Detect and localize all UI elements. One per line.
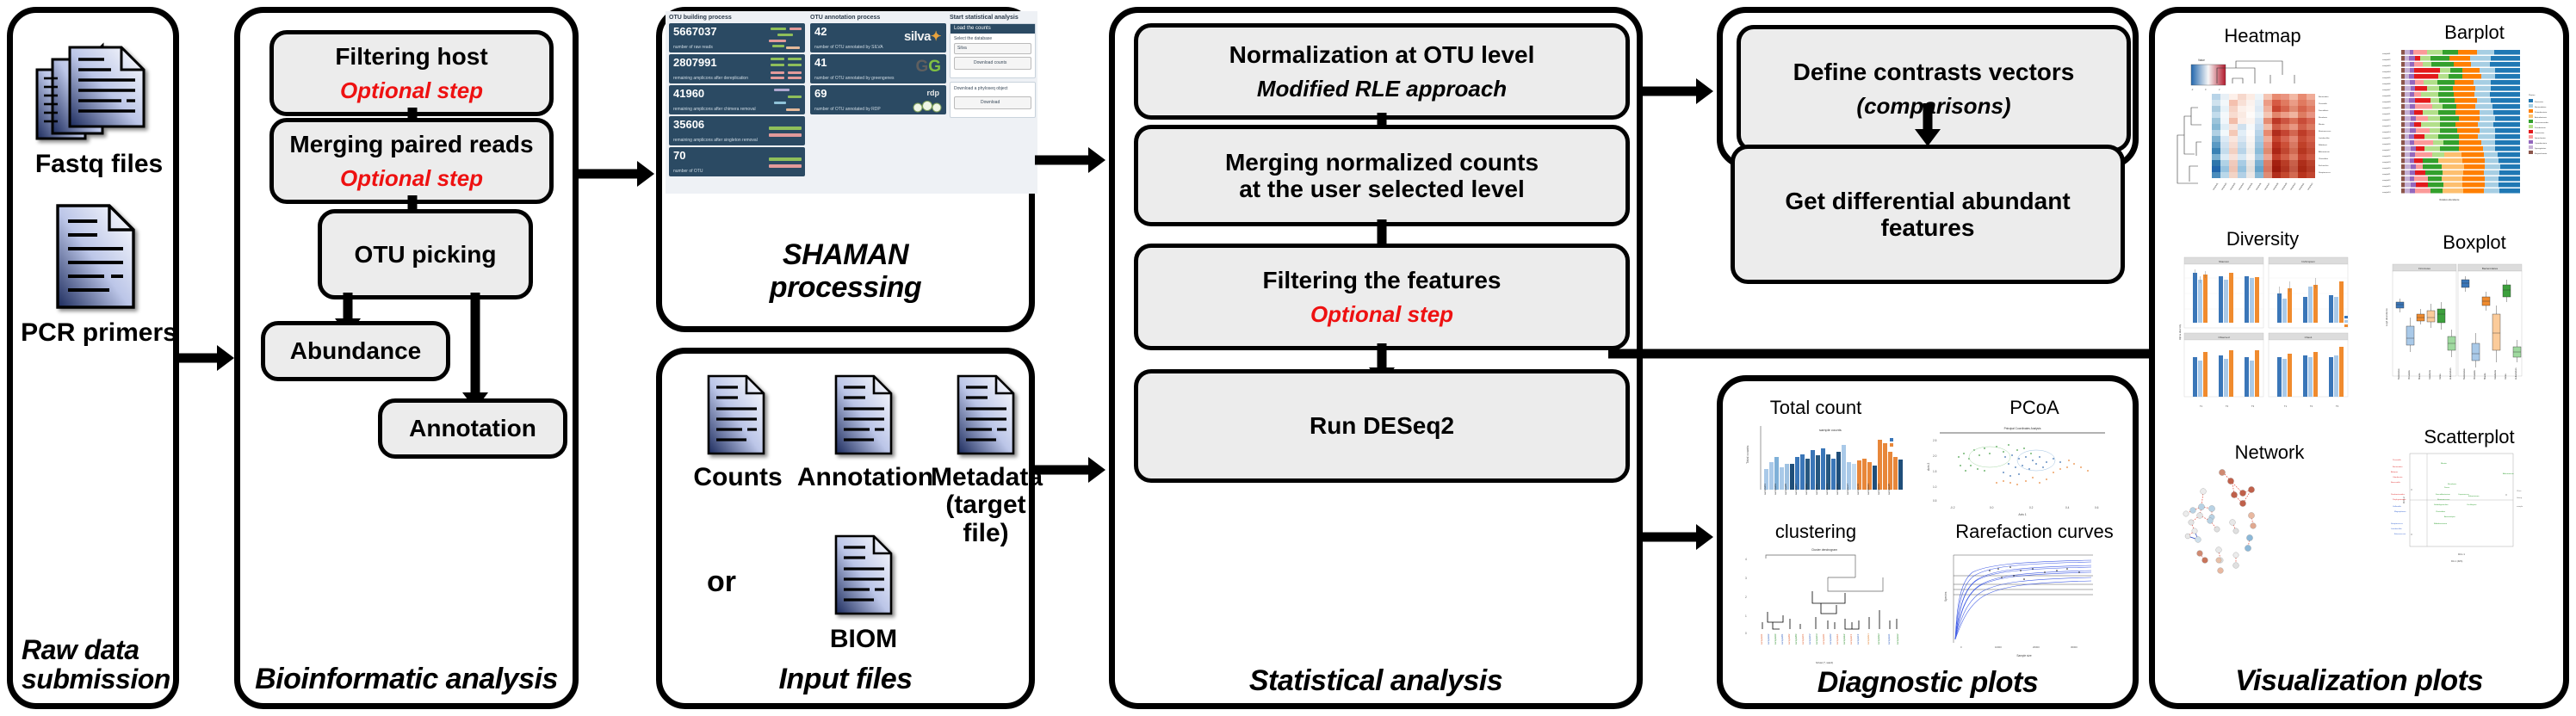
svg-text:Firmicutes: Firmicutes: [2535, 101, 2544, 103]
stat-caption: number of OTU annotated by greengenes: [814, 77, 895, 82]
svg-text:2: 2: [1745, 596, 1747, 599]
svg-text:Total counts: Total counts: [1745, 446, 1749, 464]
panel-caption-shaman: SHAMAN processing: [662, 238, 1029, 304]
step-subtitle: Optional step: [1310, 302, 1453, 327]
svg-text:Prevotella: Prevotella: [2319, 102, 2328, 105]
input-files-caption-text: Input files: [778, 663, 912, 695]
chart-scatterplot: Dim 2 Dim 1 PrevotellaBacteroidesAlistip…: [2391, 448, 2542, 616]
chart-barplot: sample01sample02sample03 sample04sample0…: [2381, 46, 2561, 218]
svg-text:Firmicutes: Firmicutes: [2418, 267, 2430, 270]
svg-text:Cluster dendrogram: Cluster dendrogram: [1811, 548, 1837, 552]
shaman-column-heading: Start statistical analysis: [950, 15, 1019, 21]
shaman-stat-card[interactable]: 2807991 remaining amplicons after derepl…: [669, 54, 805, 83]
stat-caption: number of OTU: [673, 170, 703, 175]
step-title: Get differential abundant features: [1785, 188, 2070, 242]
svg-text:Bifidobact.: Bifidobact.: [2319, 144, 2328, 146]
svg-text:sample22: sample22: [2382, 180, 2391, 182]
svg-text:Fusobacteria: Fusobacteria: [2535, 127, 2546, 129]
svg-text:sample02: sample02: [2221, 182, 2228, 191]
step-subtitle: Modified RLE approach: [1257, 77, 1507, 102]
svg-text:Relative abundance: Relative abundance: [2440, 198, 2460, 201]
plot-title-barplot: Barplot: [2270, 22, 2576, 44]
svg-text:30000: 30000: [2071, 645, 2078, 649]
svg-text:sampleE2: sampleE2: [1842, 633, 1846, 645]
stat-value: 69: [814, 88, 827, 99]
svg-text:Escherichia: Escherichia: [2319, 164, 2329, 167]
pcr-primers-text: PCR primers: [21, 318, 177, 347]
svg-text:sample10: sample10: [2290, 182, 2297, 191]
svg-text:Bacteroidetes: Bacteroidetes: [2482, 267, 2499, 270]
svg-text:sample07: sample07: [1794, 484, 1798, 495]
step-run-deseq2[interactable]: Run DESeq2: [1134, 369, 1630, 483]
svg-text:sampleF2: sampleF2: [1856, 633, 1860, 645]
svg-text:Axis 1: Axis 1: [2018, 513, 2026, 516]
svg-text:InvSimpson: InvSimpson: [2301, 260, 2315, 263]
step-title: Merging paired reads: [289, 131, 533, 157]
step-get-differential-features[interactable]: Get differential abundant features: [1731, 145, 2125, 284]
download-counts-button[interactable]: Download counts: [954, 57, 1031, 70]
svg-text:Bacteroides: Bacteroides: [2393, 466, 2403, 468]
svg-text:Clostridium: Clostridium: [2319, 157, 2328, 160]
panel-caption-diagnostic: Diagnostic plots: [1723, 666, 2133, 700]
svg-text:Alistipes: Alistipes: [2391, 471, 2399, 473]
svg-text:Veillonella: Veillonella: [2393, 506, 2402, 508]
svg-text:1: 1: [1745, 614, 1747, 618]
svg-text:Parabacteroides: Parabacteroides: [2391, 493, 2406, 496]
svg-text:Shannon: Shannon: [2219, 260, 2229, 263]
svg-text:sampleH1: sampleH1: [1887, 633, 1891, 645]
stat-value: 5667037: [673, 26, 717, 37]
stat-value: 2807991: [673, 57, 717, 68]
step-title: OTU picking: [355, 241, 497, 268]
svg-text:sampleE1: sampleE1: [1836, 633, 1839, 645]
stat-caption: remaining amplicons after chimera remova…: [673, 108, 756, 113]
svg-text:sample16: sample16: [2382, 144, 2391, 145]
step-title: Filtering host: [335, 43, 487, 70]
svg-text:sampleF1: sampleF1: [1849, 633, 1853, 645]
raw-data-caption-text: Raw data submission: [22, 634, 170, 695]
svg-text:sample01: sample01: [2382, 53, 2391, 55]
svg-text:sample09: sample09: [2282, 182, 2288, 191]
svg-text:1.5: 1.5: [1933, 470, 1937, 473]
pcr-primers-label: PCR primers: [13, 319, 185, 347]
svg-text:sampleA1: sampleA1: [1760, 633, 1763, 645]
svg-text:Euryarchaeota: Euryarchaeota: [2535, 152, 2548, 155]
svg-text:Prevotella: Prevotella: [2393, 459, 2402, 461]
svg-text:Log2 abundance: Log2 abundance: [2385, 308, 2388, 326]
svg-text:Ruminococcus: Ruminococcus: [2319, 131, 2331, 133]
shaman-annotation-card[interactable]: 42 number of OTU annotated by SILVA silv…: [810, 23, 946, 52]
svg-text:Lactobacillus: Lactobacillus: [2391, 528, 2403, 530]
svg-text:2: 2: [2219, 88, 2220, 91]
rdp-logo-icon: rdp: [927, 89, 940, 97]
step-title-line2: at the user selected level: [1239, 176, 1525, 202]
panel-shaman-processing: OTU building process OTU annotation proc…: [656, 7, 1035, 332]
step-merging-paired-reads[interactable]: Merging paired reads Optional step: [269, 118, 554, 204]
svg-text:sample10: sample10: [2382, 108, 2391, 109]
chart-boxplot: Firmicutes Bacteroidetes Bacteroides: [2382, 261, 2529, 416]
svg-text:sample15: sample15: [1836, 484, 1839, 495]
svg-text:sampleC3: sampleC3: [1815, 633, 1818, 645]
bioinformatic-caption-text: Bioinformatic analysis: [255, 663, 558, 695]
step-title: Normalization at OTU level: [1229, 41, 1535, 68]
shaman-annotation-card[interactable]: 41 number of OTU annotated by greengenes…: [810, 54, 946, 83]
svg-text:sampleC2: sampleC2: [1808, 633, 1811, 645]
svg-text:Dorea: Dorea: [2505, 373, 2507, 380]
svg-text:sample15: sample15: [2382, 138, 2391, 139]
fastq-files-label: Fastq files: [13, 151, 185, 178]
svg-text:sample23: sample23: [2382, 186, 2391, 188]
step-merging-normalized-counts[interactable]: Merging normalized counts at the user se…: [1134, 125, 1630, 226]
panel-statistical-analysis: Normalization at OTU level Modified RLE …: [1109, 7, 1643, 709]
svg-text:0.0: 0.0: [1990, 506, 1994, 509]
svg-text:Species: Species: [1944, 591, 1947, 602]
database-select-value: Silva: [957, 46, 967, 51]
shaman-load-counts-panel: Load the counts Select the database Silv…: [950, 23, 1036, 78]
shaman-download-phyloseq-panel: Download a phyloseq object Download: [950, 82, 1036, 118]
svg-text:Akkermansia: Akkermansia: [2503, 472, 2514, 475]
shaman-screenshot: OTU building process OTU annotation proc…: [666, 11, 1037, 194]
svg-text:0: 0: [2205, 88, 2207, 91]
svg-text:20000: 20000: [2033, 645, 2040, 649]
step-abundance[interactable]: Abundance: [261, 321, 450, 381]
chart-heatmap: Value -202: [2172, 46, 2357, 218]
svg-text:sampleB3: sampleB3: [1794, 633, 1798, 645]
svg-text:sampleB2: sampleB2: [1787, 633, 1791, 645]
svg-text:0.6: 0.6: [2095, 506, 2099, 509]
step-otu-picking[interactable]: OTU picking: [318, 209, 533, 299]
svg-text:2.5: 2.5: [1933, 439, 1937, 442]
svg-text:Blautia: Blautia: [2418, 373, 2421, 380]
svg-text:sampleA2: sampleA2: [1767, 633, 1770, 645]
svg-text:Porphyromonas: Porphyromonas: [2393, 498, 2406, 501]
svg-text:Odoribacter: Odoribacter: [2393, 476, 2403, 478]
svg-text:sample04: sample04: [2382, 71, 2391, 73]
multi-document-icon: [32, 37, 161, 145]
svg-text:0: 0: [1960, 645, 1962, 649]
svg-text:0.4: 0.4: [2065, 506, 2070, 509]
svg-text:sample11: sample11: [2382, 114, 2391, 115]
svg-text:Eubacterium: Eubacterium: [2468, 495, 2479, 497]
greengenes-logo-icon: GG: [915, 58, 941, 77]
svg-text:Eubacterium: Eubacterium: [2449, 368, 2452, 380]
svg-text:T2: T2: [2226, 404, 2229, 408]
silva-logo-icon: silva✦: [904, 28, 941, 44]
svg-text:Sample size: Sample size: [2016, 654, 2032, 657]
panel-diagnostic-plots: Total count PCoA clustering Rarefaction …: [1717, 375, 2139, 709]
svg-text:sample13: sample13: [1825, 484, 1829, 495]
step-title: Filtering the features: [1263, 267, 1502, 293]
visualization-caption-text: Visualization plots: [2235, 664, 2483, 697]
download-phyloseq-button[interactable]: Download: [954, 96, 1031, 109]
or-label: or: [707, 565, 736, 599]
svg-text:Prevotella: Prevotella: [2408, 370, 2411, 380]
step-subtitle: Optional step: [340, 166, 483, 191]
svg-text:Bacteroides: Bacteroides: [2319, 96, 2329, 98]
svg-text:Observed: Observed: [2218, 336, 2229, 339]
biom-label: BIOM: [807, 626, 920, 653]
svg-text:4: 4: [1745, 558, 1747, 561]
document-icon: [51, 201, 140, 312]
svg-text:Roseburia: Roseburia: [2429, 369, 2431, 380]
svg-text:T3: T3: [2251, 404, 2255, 408]
download-phyloseq-title: Download a phyloseq object: [954, 86, 1008, 91]
svg-text:sample03: sample03: [2382, 65, 2391, 67]
document-icon-metadata: [953, 373, 1019, 457]
metadata-label-line2: (target file): [945, 491, 1025, 546]
svg-text:-0.2: -0.2: [1950, 506, 1955, 509]
panel-bioinformatic-analysis: Filtering host Optional step Merging pai…: [234, 7, 579, 709]
svg-text:sample02: sample02: [2382, 59, 2391, 61]
step-filtering-host[interactable]: Filtering host Optional step: [269, 30, 554, 116]
load-counts-header: Load the counts: [951, 24, 1035, 34]
panel-visualization-plots: Heatmap Barplot Diversity Boxplot Networ…: [2149, 7, 2569, 709]
svg-text:Value: Value: [2198, 59, 2205, 62]
svg-text:sample: sample: [2517, 506, 2523, 508]
chart-total-count: Total counts sample counts: [1742, 419, 1914, 514]
svg-text:sample counts: sample counts: [1819, 428, 1842, 432]
svg-text:Proteobacteria: Proteobacteria: [2535, 111, 2548, 114]
shaman-stat-card[interactable]: 70 number of OTU: [669, 147, 805, 176]
svg-text:Faecalibacterium: Faecalibacterium: [2436, 493, 2450, 496]
panel-input-files: Counts Annotation Metadata (target file)…: [656, 348, 1035, 709]
svg-text:Faecalibact.: Faecalibact.: [2319, 109, 2329, 112]
panel-caption-visualization: Visualization plots: [2155, 664, 2563, 698]
svg-text:sampleB1: sampleB1: [1780, 633, 1784, 645]
svg-text:sample07: sample07: [2382, 89, 2391, 91]
step-title-line2: features: [1881, 214, 1975, 241]
step-title: Define contrasts vectors: [1793, 59, 2075, 85]
svg-text:0.5: 0.5: [1933, 499, 1937, 503]
stat-value: 70: [673, 150, 685, 161]
svg-text:sample13: sample13: [2382, 126, 2391, 127]
panel-caption-input-files: Input files: [662, 663, 1029, 696]
svg-text:sample17: sample17: [2382, 150, 2391, 151]
svg-text:Streptococcus: Streptococcus: [2391, 522, 2404, 525]
step-annotation[interactable]: Annotation: [378, 398, 567, 459]
svg-text:Bacteroidetes: Bacteroidetes: [2535, 106, 2547, 108]
svg-text:sample09: sample09: [2382, 102, 2391, 103]
svg-text:10000: 10000: [1995, 645, 2002, 649]
shaman-stat-card[interactable]: 35606 remaining amplicons after singleto…: [669, 116, 805, 145]
step-subtitle: Optional step: [340, 78, 483, 103]
svg-text:sample11: sample11: [2299, 182, 2305, 190]
svg-text:Spirochaetes: Spirochaetes: [2535, 137, 2547, 139]
svg-text:Barnesiella: Barnesiella: [2391, 481, 2401, 484]
svg-text:3: 3: [1745, 577, 1747, 580]
svg-text:Bifidobacterium: Bifidobacterium: [2434, 522, 2447, 525]
svg-text:sample05: sample05: [1784, 484, 1787, 495]
svg-text:Chao1: Chao1: [2305, 336, 2313, 339]
arrow-contrasts-to-features: [1915, 103, 1941, 146]
stat-caption: number of OTU annotated by SILVA: [814, 46, 883, 51]
counts-label: Counts: [679, 464, 796, 491]
plot-title-boxplot: Boxplot: [2270, 231, 2576, 254]
svg-text:sample23: sample23: [1877, 484, 1880, 495]
panel-caption-statistical: Statistical analysis: [1115, 664, 1637, 698]
svg-text:Roseburia: Roseburia: [2494, 369, 2497, 380]
panel-raw-data: Fastq files: [7, 7, 179, 709]
svg-text:Megasphaera: Megasphaera: [2394, 510, 2406, 513]
svg-text:sample01: sample01: [1763, 484, 1767, 495]
arrow-bioinformatic-to-shaman: [579, 160, 656, 188]
statistical-caption-text: Statistical analysis: [1249, 664, 1502, 697]
svg-text:Principal Coordinates Analysis: Principal Coordinates Analysis: [2004, 427, 2041, 430]
svg-text:T1: T1: [2284, 404, 2288, 408]
select-database-label: Select the database: [954, 36, 992, 41]
svg-text:0.2: 0.2: [2029, 506, 2034, 509]
svg-text:Blautia: Blautia: [2319, 123, 2325, 126]
shaman-column-heading: OTU building process: [669, 15, 732, 21]
svg-text:Oscillospira: Oscillospira: [2467, 503, 2477, 506]
svg-text:sample03: sample03: [1774, 484, 1777, 495]
panel-caption-raw-data: Raw data submission: [22, 635, 173, 694]
svg-text:sample08: sample08: [2382, 96, 2391, 97]
svg-text:sampleH2: sampleH2: [1896, 633, 1899, 645]
arrow-input-files-to-statistical: [1035, 456, 1109, 484]
svg-text:sample05: sample05: [2382, 77, 2391, 79]
svg-text:0: 0: [1745, 632, 1747, 635]
shaman-stat-card[interactable]: 41960 remaining amplicons after chimera …: [669, 85, 805, 114]
svg-text:Dorea: Dorea: [2439, 373, 2442, 380]
step-title: Run DESeq2: [1310, 412, 1454, 439]
step-title-line1: Get differential abundant: [1785, 188, 2070, 214]
document-icon-annotation: [831, 373, 896, 457]
svg-text:Group: Group: [2517, 497, 2523, 499]
document-icon-counts: [703, 373, 769, 457]
svg-text:T2: T2: [2310, 404, 2313, 408]
svg-text:sample19: sample19: [2382, 162, 2391, 164]
stat-value: 42: [814, 26, 827, 37]
svg-text:Streptococcus: Streptococcus: [2319, 171, 2331, 174]
svg-text:sample07: sample07: [2264, 182, 2271, 191]
panel-caption-bioinformatic: Bioinformatic analysis: [240, 663, 573, 696]
svg-text:Class: Class: [2517, 491, 2522, 492]
svg-text:Blautia: Blautia: [2484, 373, 2486, 380]
svg-text:Prevotella: Prevotella: [2474, 370, 2476, 380]
step-title: Abundance: [290, 337, 421, 364]
svg-text:sample17: sample17: [1846, 484, 1849, 495]
step-normalization[interactable]: Normalization at OTU level Modified RLE …: [1134, 23, 1630, 120]
svg-text:sample18: sample18: [2382, 156, 2391, 157]
step-title: Merging normalized counts at the user se…: [1225, 149, 1539, 203]
step-title: Annotation: [409, 415, 536, 441]
chart-clustering: Cluster dendrogram 432 10: [1742, 543, 1914, 672]
arrow-statistical-to-contrasts: [1643, 77, 1717, 105]
stat-value: 35606: [673, 119, 704, 130]
download-counts-label: Download counts: [974, 60, 1006, 65]
step-filtering-features[interactable]: Filtering the features Optional step: [1134, 244, 1630, 350]
svg-text:sample25: sample25: [1887, 484, 1891, 495]
svg-text:sampleD1: sampleD1: [1822, 633, 1825, 645]
stat-caption: remaining amplicons after dereplication: [673, 77, 748, 82]
arrow-raw-to-bioinformatic: [179, 344, 234, 372]
svg-text:sample12: sample12: [2307, 182, 2314, 191]
svg-text:Cyanobacteria: Cyanobacteria: [2535, 142, 2548, 145]
arrow-shaman-to-statistical: [1035, 146, 1109, 174]
chart-pcoa: Principal Coordinates Analysis Axis 2 Ax…: [1923, 419, 2112, 522]
plot-title-scatterplot: Scatterplot: [2265, 426, 2576, 448]
svg-text:sampleD2: sampleD2: [1829, 633, 1832, 645]
svg-text:sample21: sample21: [2382, 174, 2391, 176]
svg-text:T1: T1: [2200, 404, 2203, 408]
shaman-caption-text: SHAMAN processing: [759, 238, 932, 304]
stat-value: 41960: [673, 88, 704, 99]
svg-text:sampleA3: sampleA3: [1774, 633, 1777, 645]
svg-text:Bacteroides: Bacteroides: [2398, 368, 2400, 380]
svg-text:2.0: 2.0: [1933, 454, 1937, 458]
chart-rarefaction: Species Sample size 010000 20000300: [1938, 550, 2097, 662]
step-title-line1: Merging normalized counts: [1225, 149, 1539, 176]
database-select[interactable]: Silva: [954, 43, 1031, 54]
svg-text:sample08: sample08: [2273, 182, 2280, 191]
svg-text:sample11: sample11: [1815, 484, 1818, 495]
svg-text:Synergistetes: Synergistetes: [2535, 147, 2547, 150]
svg-text:Verrucomicrobia: Verrucomicrobia: [2535, 121, 2549, 124]
svg-text:sampleG1: sampleG1: [1867, 633, 1870, 645]
svg-text:Phylum: Phylum: [2529, 95, 2535, 96]
stat-value: 41: [814, 57, 827, 68]
download-button-label: Download: [981, 100, 1000, 105]
svg-text:sample06: sample06: [2382, 83, 2391, 85]
svg-text:sample24: sample24: [2382, 192, 2391, 194]
arrow-otu-to-annotation: [462, 293, 488, 410]
svg-text:hclust (*, ward): hclust (*, ward): [1816, 661, 1833, 664]
svg-text:-2: -2: [2191, 88, 2194, 91]
document-icon-biom: [831, 533, 896, 617]
svg-text:Dorea: Dorea: [2444, 486, 2450, 489]
svg-text:Bacteroides: Bacteroides: [2463, 368, 2466, 380]
svg-text:Enterococcus: Enterococcus: [2394, 533, 2406, 535]
svg-text:Akkermansia: Akkermansia: [2319, 151, 2330, 153]
svg-text:Tenericutes: Tenericutes: [2535, 132, 2545, 134]
svg-text:Dim 1 (32%): Dim 1 (32%): [2451, 560, 2462, 563]
metadata-label: Metadata (target file): [931, 464, 1041, 547]
svg-text:sampleG2: sampleG2: [1877, 633, 1880, 645]
metadata-label-line1: Metadata: [931, 463, 1043, 491]
svg-text:Actinobacteria: Actinobacteria: [2535, 116, 2548, 119]
svg-text:Anaerostipes: Anaerostipes: [2444, 515, 2456, 518]
svg-text:1.0: 1.0: [1933, 485, 1937, 489]
svg-text:sample06: sample06: [2256, 182, 2263, 191]
svg-text:Lactobacillus: Lactobacillus: [2319, 137, 2331, 139]
svg-text:sample14: sample14: [2382, 132, 2391, 133]
annotation-label: Annotation: [791, 464, 939, 491]
svg-text:Axis 2: Axis 2: [1927, 463, 1930, 471]
svg-text:Clostridium: Clostridium: [2436, 510, 2445, 513]
svg-text:Subdoligranulum: Subdoligranulum: [2434, 503, 2449, 506]
svg-text:sample20: sample20: [2382, 168, 2391, 170]
svg-text:T3: T3: [2336, 404, 2339, 408]
svg-text:sample12: sample12: [2382, 120, 2391, 121]
svg-text:sample01: sample01: [2213, 182, 2220, 191]
svg-text:sample03: sample03: [2230, 182, 2237, 191]
stat-caption: remaining amplicons after singleton remo…: [673, 139, 758, 144]
svg-text:Roseburia: Roseburia: [2448, 483, 2457, 485]
svg-text:sample21: sample21: [1867, 484, 1870, 495]
svg-text:Eubacterium: Eubacterium: [2515, 368, 2517, 380]
svg-text:Dim 1: Dim 1: [2458, 552, 2465, 556]
svg-text:Blautia: Blautia: [2441, 462, 2447, 465]
svg-text:sample05: sample05: [2247, 182, 2254, 191]
svg-text:Roseburia: Roseburia: [2319, 116, 2328, 119]
shaman-annotation-card[interactable]: 69 number of OTU annotated by RDP rdp: [810, 85, 946, 114]
diagnostic-caption-text: Diagnostic plots: [1817, 666, 2038, 699]
stat-caption: number of raw reads: [673, 46, 713, 51]
chart-network: [2170, 460, 2356, 633]
svg-text:sample19: sample19: [1856, 484, 1860, 495]
shaman-stat-card[interactable]: 5667037 number of raw reads: [669, 23, 805, 52]
